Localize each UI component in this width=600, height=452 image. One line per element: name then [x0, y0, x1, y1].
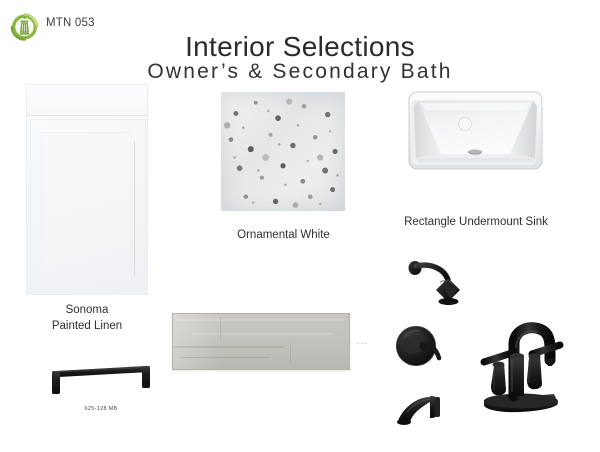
- tile-grain: [180, 357, 270, 358]
- tile-streak: [176, 319, 344, 321]
- cabinet-door-front: [30, 119, 146, 293]
- cabinet-caption: Sonoma Painted Linen: [27, 303, 147, 334]
- tile-streak: [192, 333, 332, 335]
- tile-grain: [220, 317, 221, 341]
- tile-sample: [172, 313, 350, 370]
- sink-caption: Rectangle Undermount Sink: [386, 215, 566, 231]
- cabinet-door-edge: [134, 142, 135, 276]
- page-subtitle: Owner’s & Secondary Bath: [0, 60, 600, 83]
- cabinet-door-sample: [27, 85, 147, 294]
- project-code: MTN 053: [46, 17, 95, 29]
- lavatory-faucet: [472, 304, 572, 422]
- sink-product-image: [406, 88, 545, 178]
- granite-texture: [221, 92, 345, 211]
- selection-board: MTN 053 Interior Selections Owner’s & Se…: [0, 0, 600, 452]
- tub-spout: [380, 390, 450, 430]
- page-title: Interior Selections: [0, 32, 600, 61]
- cabinet-pull-code: 625-128 MB: [47, 406, 155, 412]
- tile-grain: [290, 343, 291, 363]
- cabinet-door-panel: [41, 132, 131, 280]
- countertop-sample: [221, 92, 345, 211]
- cabinet-drawer-front: [27, 85, 147, 116]
- shower-head: [404, 258, 476, 314]
- tile-grain: [174, 346, 284, 348]
- tile-microtext: ▪▪▪ ▪▪▪▪▪: [356, 341, 367, 345]
- shower-valve-trim: [392, 322, 448, 374]
- cabinet-pull: 625-128 MB: [47, 362, 155, 402]
- countertop-caption: Ornamental White: [206, 228, 361, 244]
